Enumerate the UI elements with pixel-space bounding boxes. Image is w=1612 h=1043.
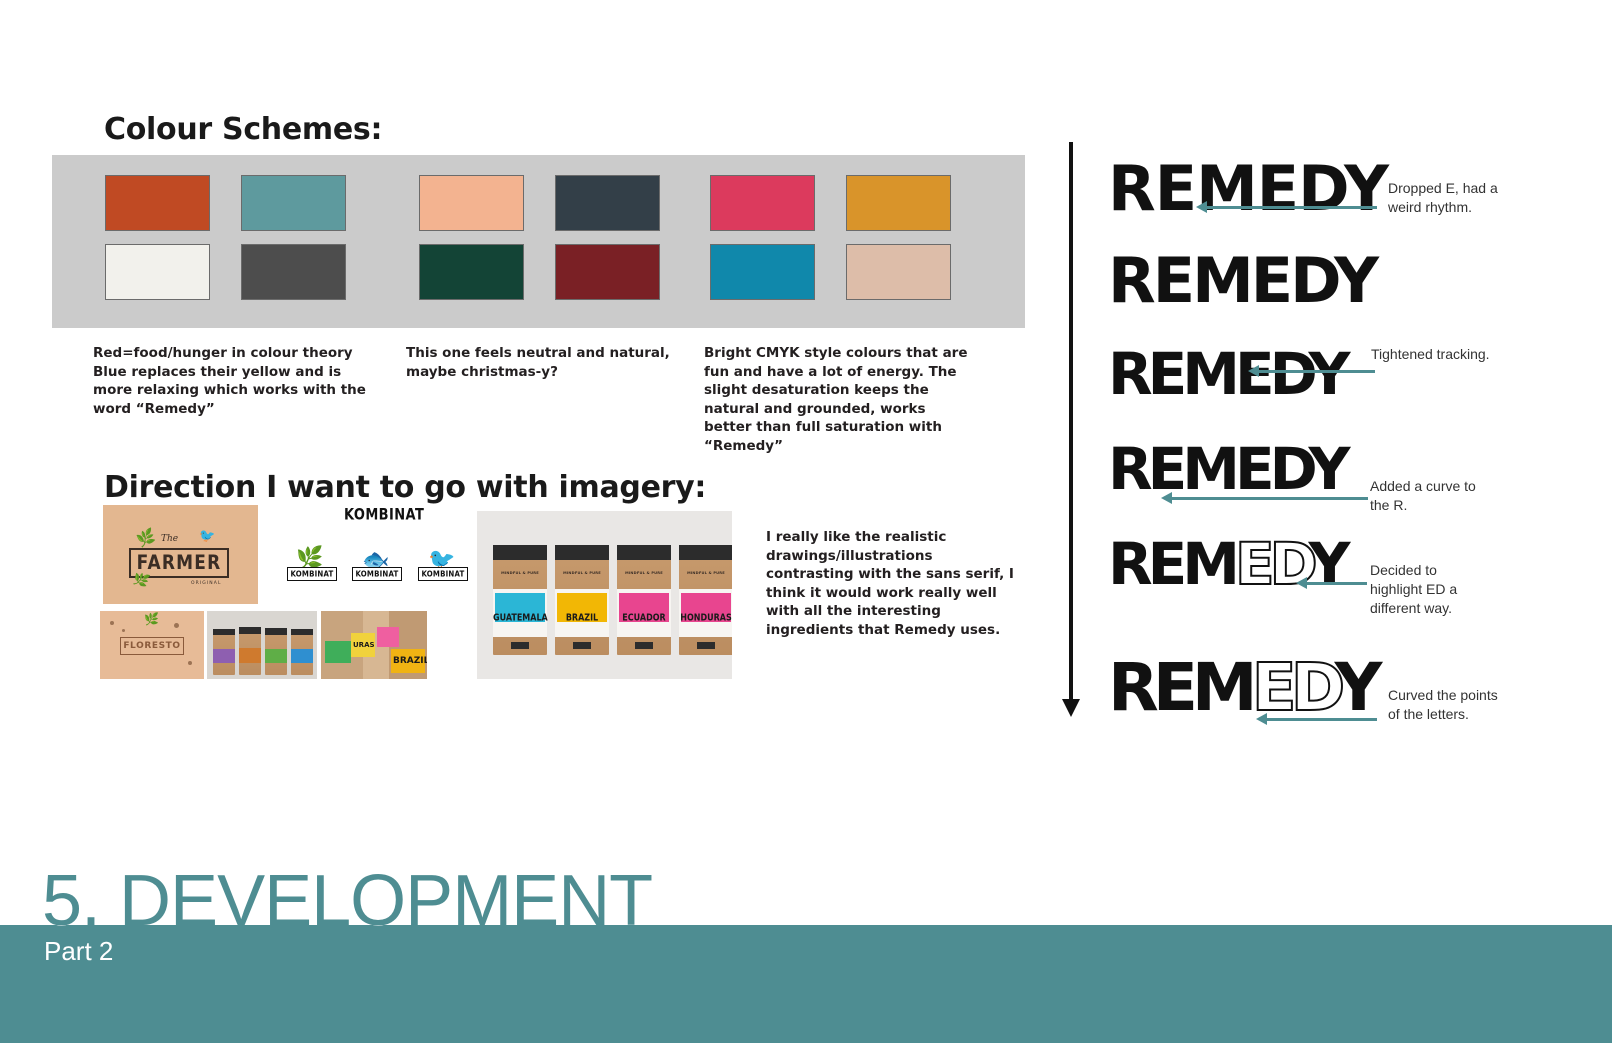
floresto-wordmark: FLORESTO bbox=[123, 641, 180, 651]
coffee-bag: MINDFUL & PURE GUATEMALA bbox=[493, 545, 547, 655]
wordmark-suffix: Y bbox=[1334, 244, 1376, 317]
bag-brand-mark: MINDFUL & PURE bbox=[493, 571, 547, 575]
coffee-bag bbox=[213, 629, 235, 675]
wordmark-prefix: REM bbox=[1108, 340, 1235, 408]
wordmark-suffix: Y bbox=[1344, 152, 1388, 225]
leaf-icon: 🌿 bbox=[296, 547, 323, 569]
logo-variant-6: REMEDY bbox=[1108, 655, 1376, 721]
bag-country-label: ECUADOR bbox=[617, 612, 671, 623]
page-title-colour-schemes: Colour Schemes: bbox=[104, 112, 382, 147]
colour-scheme-group-3 bbox=[710, 175, 951, 300]
colour-swatch bbox=[419, 175, 524, 231]
evolution-timeline-axis bbox=[1069, 142, 1073, 707]
deck-subtitle: Part 2 bbox=[44, 936, 113, 967]
brazil-thumb-label: BRAZIL bbox=[393, 656, 427, 666]
colour-scheme-group-1 bbox=[105, 175, 346, 300]
coffee-bag bbox=[265, 628, 287, 675]
coffee-bag: MINDFUL & PURE HONDURAS bbox=[679, 545, 732, 655]
annotation-leader-line bbox=[1170, 497, 1368, 500]
reference-image-bags-row bbox=[207, 611, 317, 679]
colour-scheme-group-2 bbox=[419, 175, 660, 300]
annotation-4: Added a curve to the R. bbox=[1370, 477, 1490, 515]
reference-image-coffee-bags: MINDFUL & PURE GUATEMALA MINDFUL & PURE … bbox=[477, 511, 732, 679]
kombinat-badge: KOMBINAT bbox=[352, 567, 402, 581]
farmer-the-label: The bbox=[161, 534, 178, 544]
kombinat-badge: KOMBINAT bbox=[418, 567, 468, 581]
wordmark-prefix: REM bbox=[1108, 244, 1251, 317]
annotation-leader-line bbox=[1305, 582, 1367, 585]
colour-swatch bbox=[419, 244, 524, 300]
colour-swatch bbox=[555, 175, 660, 231]
decorative-speck bbox=[110, 621, 114, 625]
logo-variant-4: REMEDY bbox=[1108, 440, 1346, 498]
reference-image-floresto: 🌿 FLORESTO bbox=[100, 611, 204, 679]
colour-swatch bbox=[710, 244, 815, 300]
bag-brand-mark: MINDFUL & PURE bbox=[555, 571, 609, 575]
brazil-thumb-label: URAS bbox=[353, 641, 375, 649]
wordmark-prefix: REM bbox=[1108, 152, 1257, 225]
decorative-speck bbox=[122, 629, 125, 632]
wordmark-mid: ED bbox=[1257, 152, 1344, 225]
page-title-imagery: Direction I want to go with imagery: bbox=[104, 470, 706, 505]
colour-swatch-panel bbox=[52, 155, 1025, 328]
reference-image-brazil-packaging: URAS BRAZIL bbox=[321, 611, 427, 679]
logo-wordmark: REMEDY bbox=[1108, 440, 1346, 498]
leaf-icon: 🌿 bbox=[144, 613, 159, 625]
logo-variant-3: REMEDY bbox=[1108, 345, 1346, 403]
decorative-speck bbox=[188, 661, 192, 665]
colour-swatch bbox=[846, 175, 951, 231]
kombinat-badge: KOMBINAT bbox=[287, 567, 337, 581]
wordmark-mid: ED bbox=[1235, 340, 1309, 408]
annotation-arrow-icon bbox=[1196, 201, 1207, 213]
wordmark-suffix: Y bbox=[1309, 340, 1346, 408]
decorative-speck bbox=[174, 623, 179, 628]
bird-icon: 🐦 bbox=[199, 529, 215, 542]
annotation-arrow-icon bbox=[1248, 365, 1259, 377]
bag-footer-tag bbox=[511, 642, 528, 650]
wordmark-suffix: Y bbox=[1309, 530, 1346, 598]
reference-image-farmer: 🌿 🐦 The FARMER 🌿 ORIGINAL bbox=[103, 505, 258, 604]
bag-footer-tag bbox=[635, 642, 652, 650]
logo-variant-2: REMEDY bbox=[1108, 250, 1376, 312]
colour-scheme-caption-1: Red=food/hunger in colour theory Blue re… bbox=[93, 344, 383, 418]
farmer-original-label: ORIGINAL bbox=[191, 581, 222, 586]
wordmark-mid: ED bbox=[1251, 244, 1334, 317]
colour-swatch bbox=[241, 175, 346, 231]
annotation-6: Curved the points of the letters. bbox=[1388, 686, 1508, 724]
bag-country-label: HONDURAS bbox=[679, 612, 732, 623]
bag-top-seal bbox=[555, 545, 609, 560]
coffee-bag: MINDFUL & PURE ECUADOR bbox=[617, 545, 671, 655]
logo-variant-1: REMEDY bbox=[1108, 158, 1388, 220]
bag-top-seal bbox=[239, 627, 261, 634]
colour-swatch bbox=[846, 244, 951, 300]
colour-swatch bbox=[105, 175, 210, 231]
farmer-wordmark: FARMER bbox=[137, 552, 222, 575]
logo-wordmark: REMEDY bbox=[1108, 250, 1376, 312]
colour-swatch bbox=[710, 175, 815, 231]
coffee-bag bbox=[291, 629, 313, 675]
logo-wordmark: REMEDY bbox=[1108, 655, 1376, 721]
annotation-1: Dropped E, had a weird rhythm. bbox=[1388, 179, 1508, 217]
evolution-arrow-icon bbox=[1062, 699, 1080, 717]
colour-swatch bbox=[241, 244, 346, 300]
colour-swatch bbox=[555, 244, 660, 300]
logo-wordmark: REMEDY bbox=[1108, 158, 1388, 220]
colour-scheme-caption-3: Bright CMYK style colours that are fun a… bbox=[704, 344, 974, 456]
bag-footer-tag bbox=[697, 642, 714, 650]
bag-top-seal bbox=[679, 545, 732, 560]
colour-scheme-caption-2: This one feels neutral and natural, mayb… bbox=[406, 344, 686, 381]
bag-top-seal bbox=[265, 628, 287, 635]
leaf-icon: 🌿 bbox=[135, 528, 157, 548]
colour-swatch bbox=[105, 244, 210, 300]
kombinat-wordmark: KOMBINAT bbox=[344, 507, 424, 525]
annotation-arrow-icon bbox=[1161, 492, 1172, 504]
bag-country-label: GUATEMALA bbox=[493, 612, 547, 623]
bag-brand-mark: MINDFUL & PURE bbox=[617, 571, 671, 575]
kombinat-badge-label: KOMBINAT bbox=[290, 569, 333, 578]
bag-footer-tag bbox=[573, 642, 590, 650]
bag-top-seal bbox=[291, 629, 313, 635]
kombinat-badge-label: KOMBINAT bbox=[421, 569, 464, 578]
annotation-arrow-icon bbox=[1256, 713, 1267, 725]
annotation-arrow-icon bbox=[1296, 577, 1307, 589]
imagery-direction-note: I really like the realistic drawings/ill… bbox=[766, 528, 1022, 640]
leaf-icon: 🌿 bbox=[131, 571, 151, 589]
annotation-3: Tightened tracking. bbox=[1371, 345, 1491, 364]
annotation-5: Decided to highlight ED a different way. bbox=[1370, 561, 1490, 618]
bag-top-seal bbox=[493, 545, 547, 560]
bag-label-band bbox=[291, 649, 313, 663]
wordmark-prefix: REM bbox=[1108, 530, 1235, 598]
coffee-bag bbox=[239, 627, 261, 675]
annotation-leader-line bbox=[1265, 718, 1377, 721]
wordmark-mid: ED bbox=[1235, 435, 1309, 503]
wordmark-suffix: Y bbox=[1309, 435, 1346, 503]
bag-top-seal bbox=[213, 629, 235, 635]
bag-brand-mark: MINDFUL & PURE bbox=[679, 571, 732, 575]
wordmark-suffix: Y bbox=[1335, 649, 1377, 726]
wordmark-prefix: REM bbox=[1108, 649, 1252, 726]
kombinat-badge-label: KOMBINAT bbox=[355, 569, 398, 578]
bag-label-band bbox=[213, 649, 235, 663]
bag-label-band bbox=[239, 648, 261, 662]
footer-band bbox=[0, 925, 1612, 1043]
logo-wordmark: REMEDY bbox=[1108, 345, 1346, 403]
floresto-logo-frame: FLORESTO bbox=[120, 637, 184, 655]
bag-label-band bbox=[265, 649, 287, 663]
coffee-bag: MINDFUL & PURE BRAZIL bbox=[555, 545, 609, 655]
annotation-leader-line bbox=[1257, 370, 1375, 373]
bag-country-label: BRAZIL bbox=[555, 612, 609, 623]
reference-image-kombinat: KOMBINAT 🌿 KOMBINAT 🐟 KOMBINAT 🐦 KOMBINA… bbox=[282, 505, 477, 604]
annotation-leader-line bbox=[1205, 206, 1377, 209]
bag-top-seal bbox=[617, 545, 671, 560]
